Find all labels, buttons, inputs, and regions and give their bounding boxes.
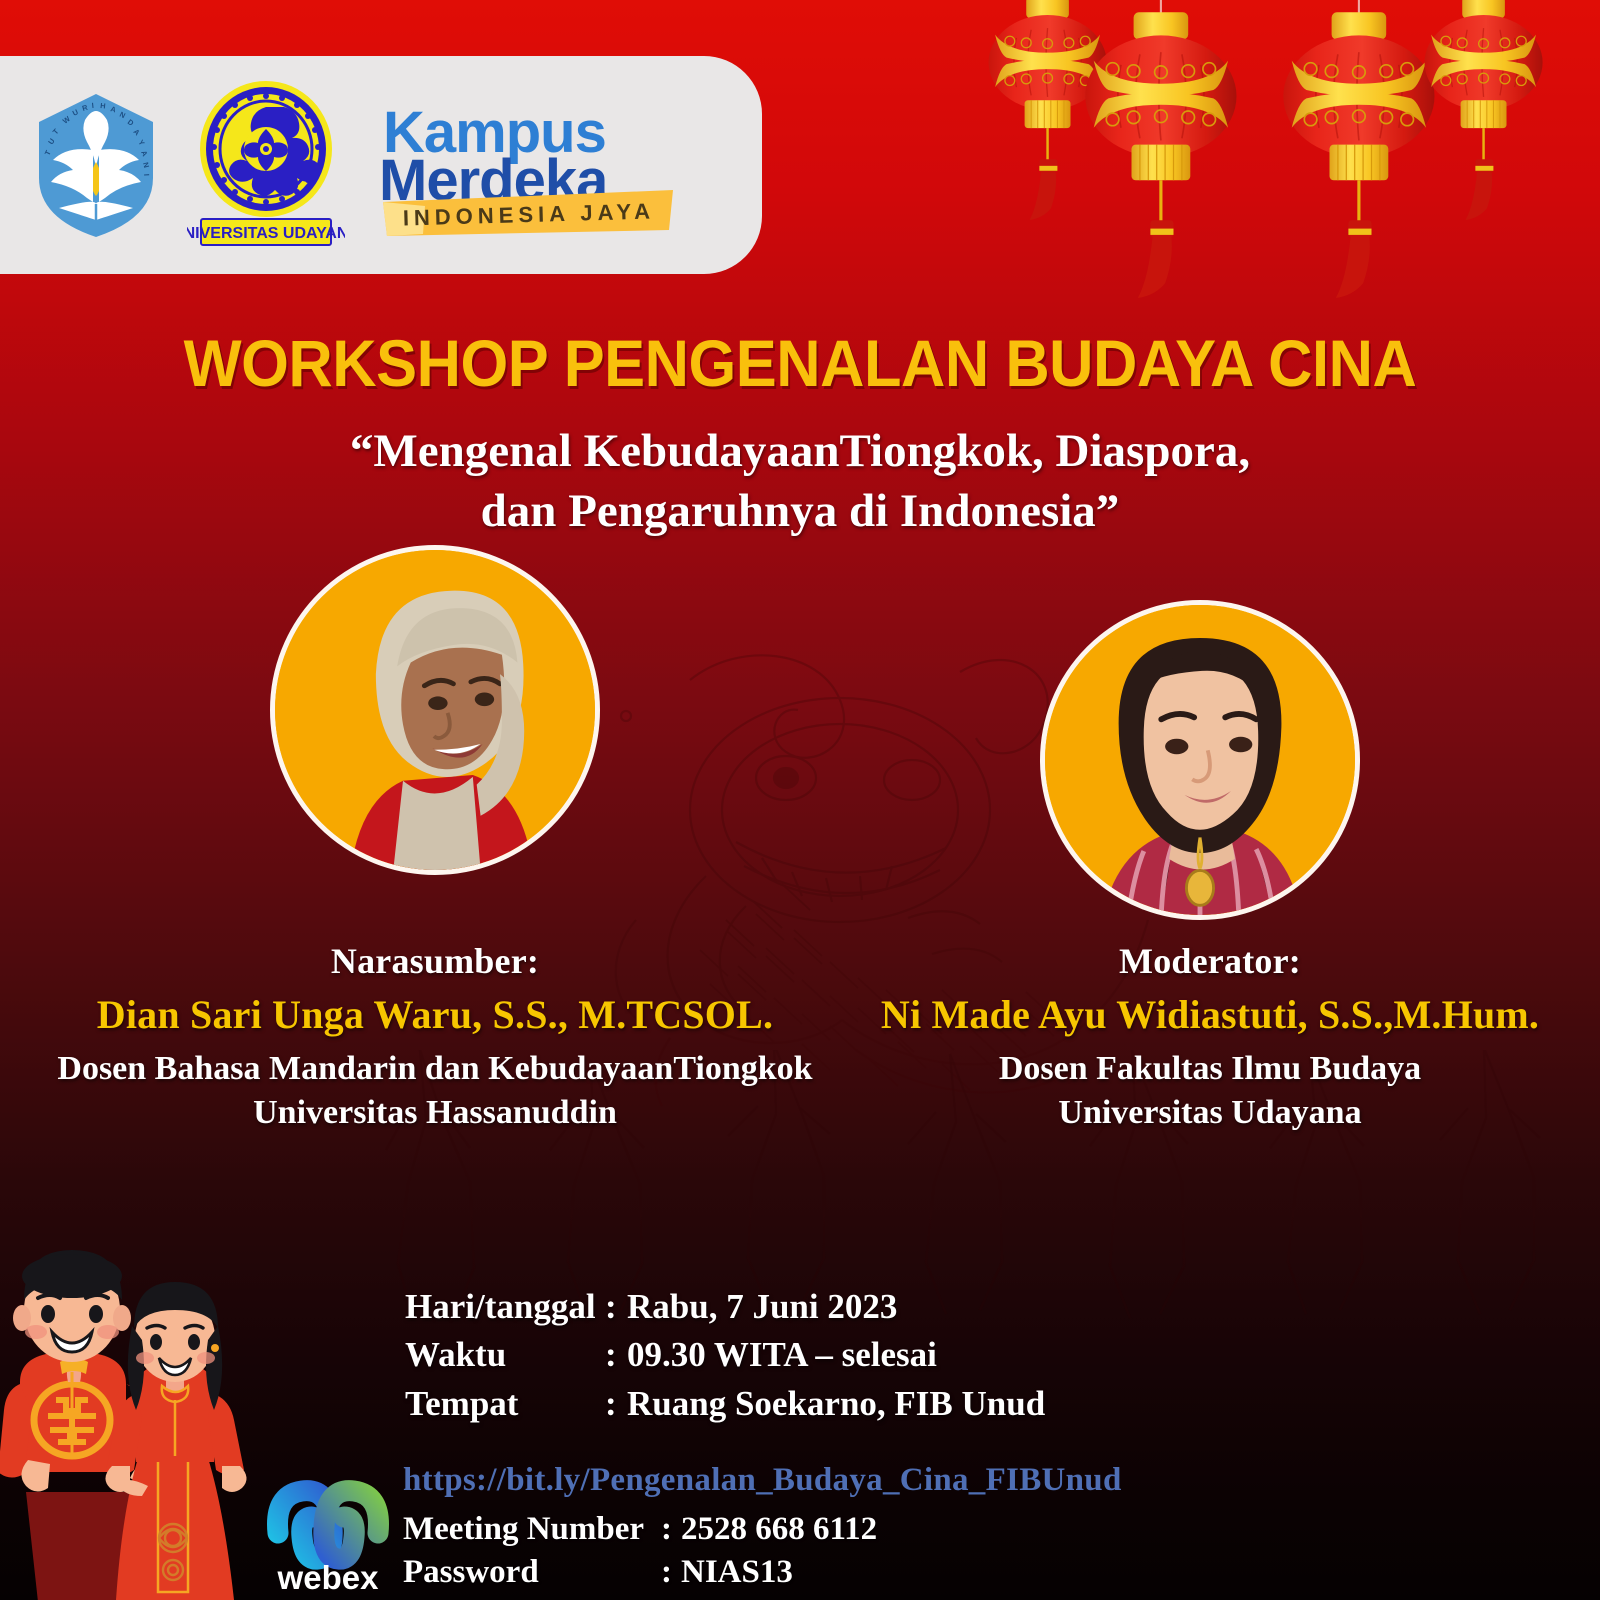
detail-row-venue: Tempat : Ruang Soekarno, FIB Unud — [405, 1380, 1045, 1428]
detail-value: 09.30 WITA – selesai — [627, 1331, 937, 1379]
page-title: WORKSHOP PENGENALAN BUDAYA CINA — [56, 330, 1544, 396]
meeting-password-label: Password — [403, 1551, 661, 1594]
webex-logo: webex — [262, 1463, 394, 1598]
speaker-photo-narasumber — [270, 545, 600, 875]
title-block: WORKSHOP PENGENALAN BUDAYA CINA “Mengena… — [0, 330, 1600, 541]
meeting-password-separator: : — [661, 1551, 681, 1594]
detail-label: Waktu — [405, 1331, 605, 1379]
chinese-lanterns — [980, 0, 1600, 330]
kampus-merdeka-logo: Kampus Merdeka INDONESIA JAYA — [377, 90, 677, 240]
speaker-affiliation-line-2: Universitas Hassanuddin — [20, 1091, 850, 1135]
detail-separator: : — [605, 1283, 627, 1331]
meeting-info: https://bit.ly/Pengenalan_Budaya_Cina_FI… — [403, 1462, 1122, 1594]
meeting-password-value: NIAS13 — [681, 1551, 793, 1594]
svg-text:H: H — [100, 101, 106, 111]
tut-wuri-handayani-logo: T U T W U R I H A N D A Y A N I — [27, 90, 165, 240]
speaker-affiliation: Dosen Bahasa Mandarin dan KebudayaanTion… — [20, 1047, 850, 1134]
chinese-couple-illustration — [0, 1232, 265, 1600]
meeting-number-label: Meeting Number — [403, 1508, 661, 1551]
meeting-link[interactable]: https://bit.ly/Pengenalan_Budaya_Cina_FI… — [403, 1462, 1122, 1499]
speaker-role-label: Moderator: — [830, 940, 1590, 982]
detail-separator: : — [605, 1380, 627, 1428]
speaker-name: Ni Made Ayu Widiastuti, S.S.,M.Hum. — [830, 991, 1590, 1038]
meeting-password-row: Password : NIAS13 — [403, 1551, 1122, 1594]
meeting-number-row: Meeting Number : 2528 668 6112 — [403, 1508, 1122, 1551]
speaker-photo-moderator — [1040, 600, 1360, 920]
detail-row-time: Waktu : 09.30 WITA – selesai — [405, 1331, 1045, 1379]
speaker-name: Dian Sari Unga Waru, S.S., M.TCSOL. — [20, 991, 850, 1038]
detail-label: Hari/tanggal — [405, 1283, 605, 1331]
meeting-credentials: Meeting Number : 2528 668 6112 Password … — [403, 1508, 1122, 1594]
speaker-affiliation: Dosen Fakultas Ilmu Budaya Universitas U… — [830, 1047, 1590, 1134]
institution-logo-card: T U T W U R I H A N D A Y A N I — [0, 56, 762, 274]
detail-separator: : — [605, 1331, 627, 1379]
detail-row-date: Hari/tanggal : Rabu, 7 Juni 2023 — [405, 1283, 1045, 1331]
detail-label: Tempat — [405, 1380, 605, 1428]
detail-value: Rabu, 7 Juni 2023 — [627, 1283, 897, 1331]
speaker-affiliation-line-1: Dosen Fakultas Ilmu Budaya — [830, 1047, 1590, 1091]
speaker-block-moderator: Moderator: Ni Made Ayu Widiastuti, S.S.,… — [830, 940, 1590, 1134]
svg-text:webex: webex — [277, 1559, 380, 1596]
svg-text:UNIVERSITAS UDAYANA: UNIVERSITAS UDAYANA — [187, 225, 345, 242]
page-subtitle: “Mengenal KebudayaanTiongkok, Diaspora, … — [0, 422, 1600, 541]
universitas-udayana-logo: UNIVERSITAS UDAYANA — [187, 79, 345, 251]
speaker-affiliation-line-1: Dosen Bahasa Mandarin dan KebudayaanTion… — [20, 1047, 850, 1091]
poster: T U T W U R I H A N D A Y A N I — [0, 0, 1600, 1600]
speaker-role-label: Narasumber: — [20, 940, 850, 982]
event-details: Hari/tanggal : Rabu, 7 Juni 2023 Waktu :… — [405, 1283, 1045, 1428]
speaker-block-narasumber: Narasumber: Dian Sari Unga Waru, S.S., M… — [20, 940, 850, 1134]
subtitle-line-1: “Mengenal KebudayaanTiongkok, Diaspora, — [0, 422, 1600, 482]
meeting-number-value: 2528 668 6112 — [681, 1508, 877, 1551]
meeting-number-separator: : — [661, 1508, 681, 1551]
subtitle-line-2: dan Pengaruhnya di Indonesia” — [0, 482, 1600, 542]
speaker-affiliation-line-2: Universitas Udayana — [830, 1091, 1590, 1135]
detail-value: Ruang Soekarno, FIB Unud — [627, 1380, 1045, 1428]
